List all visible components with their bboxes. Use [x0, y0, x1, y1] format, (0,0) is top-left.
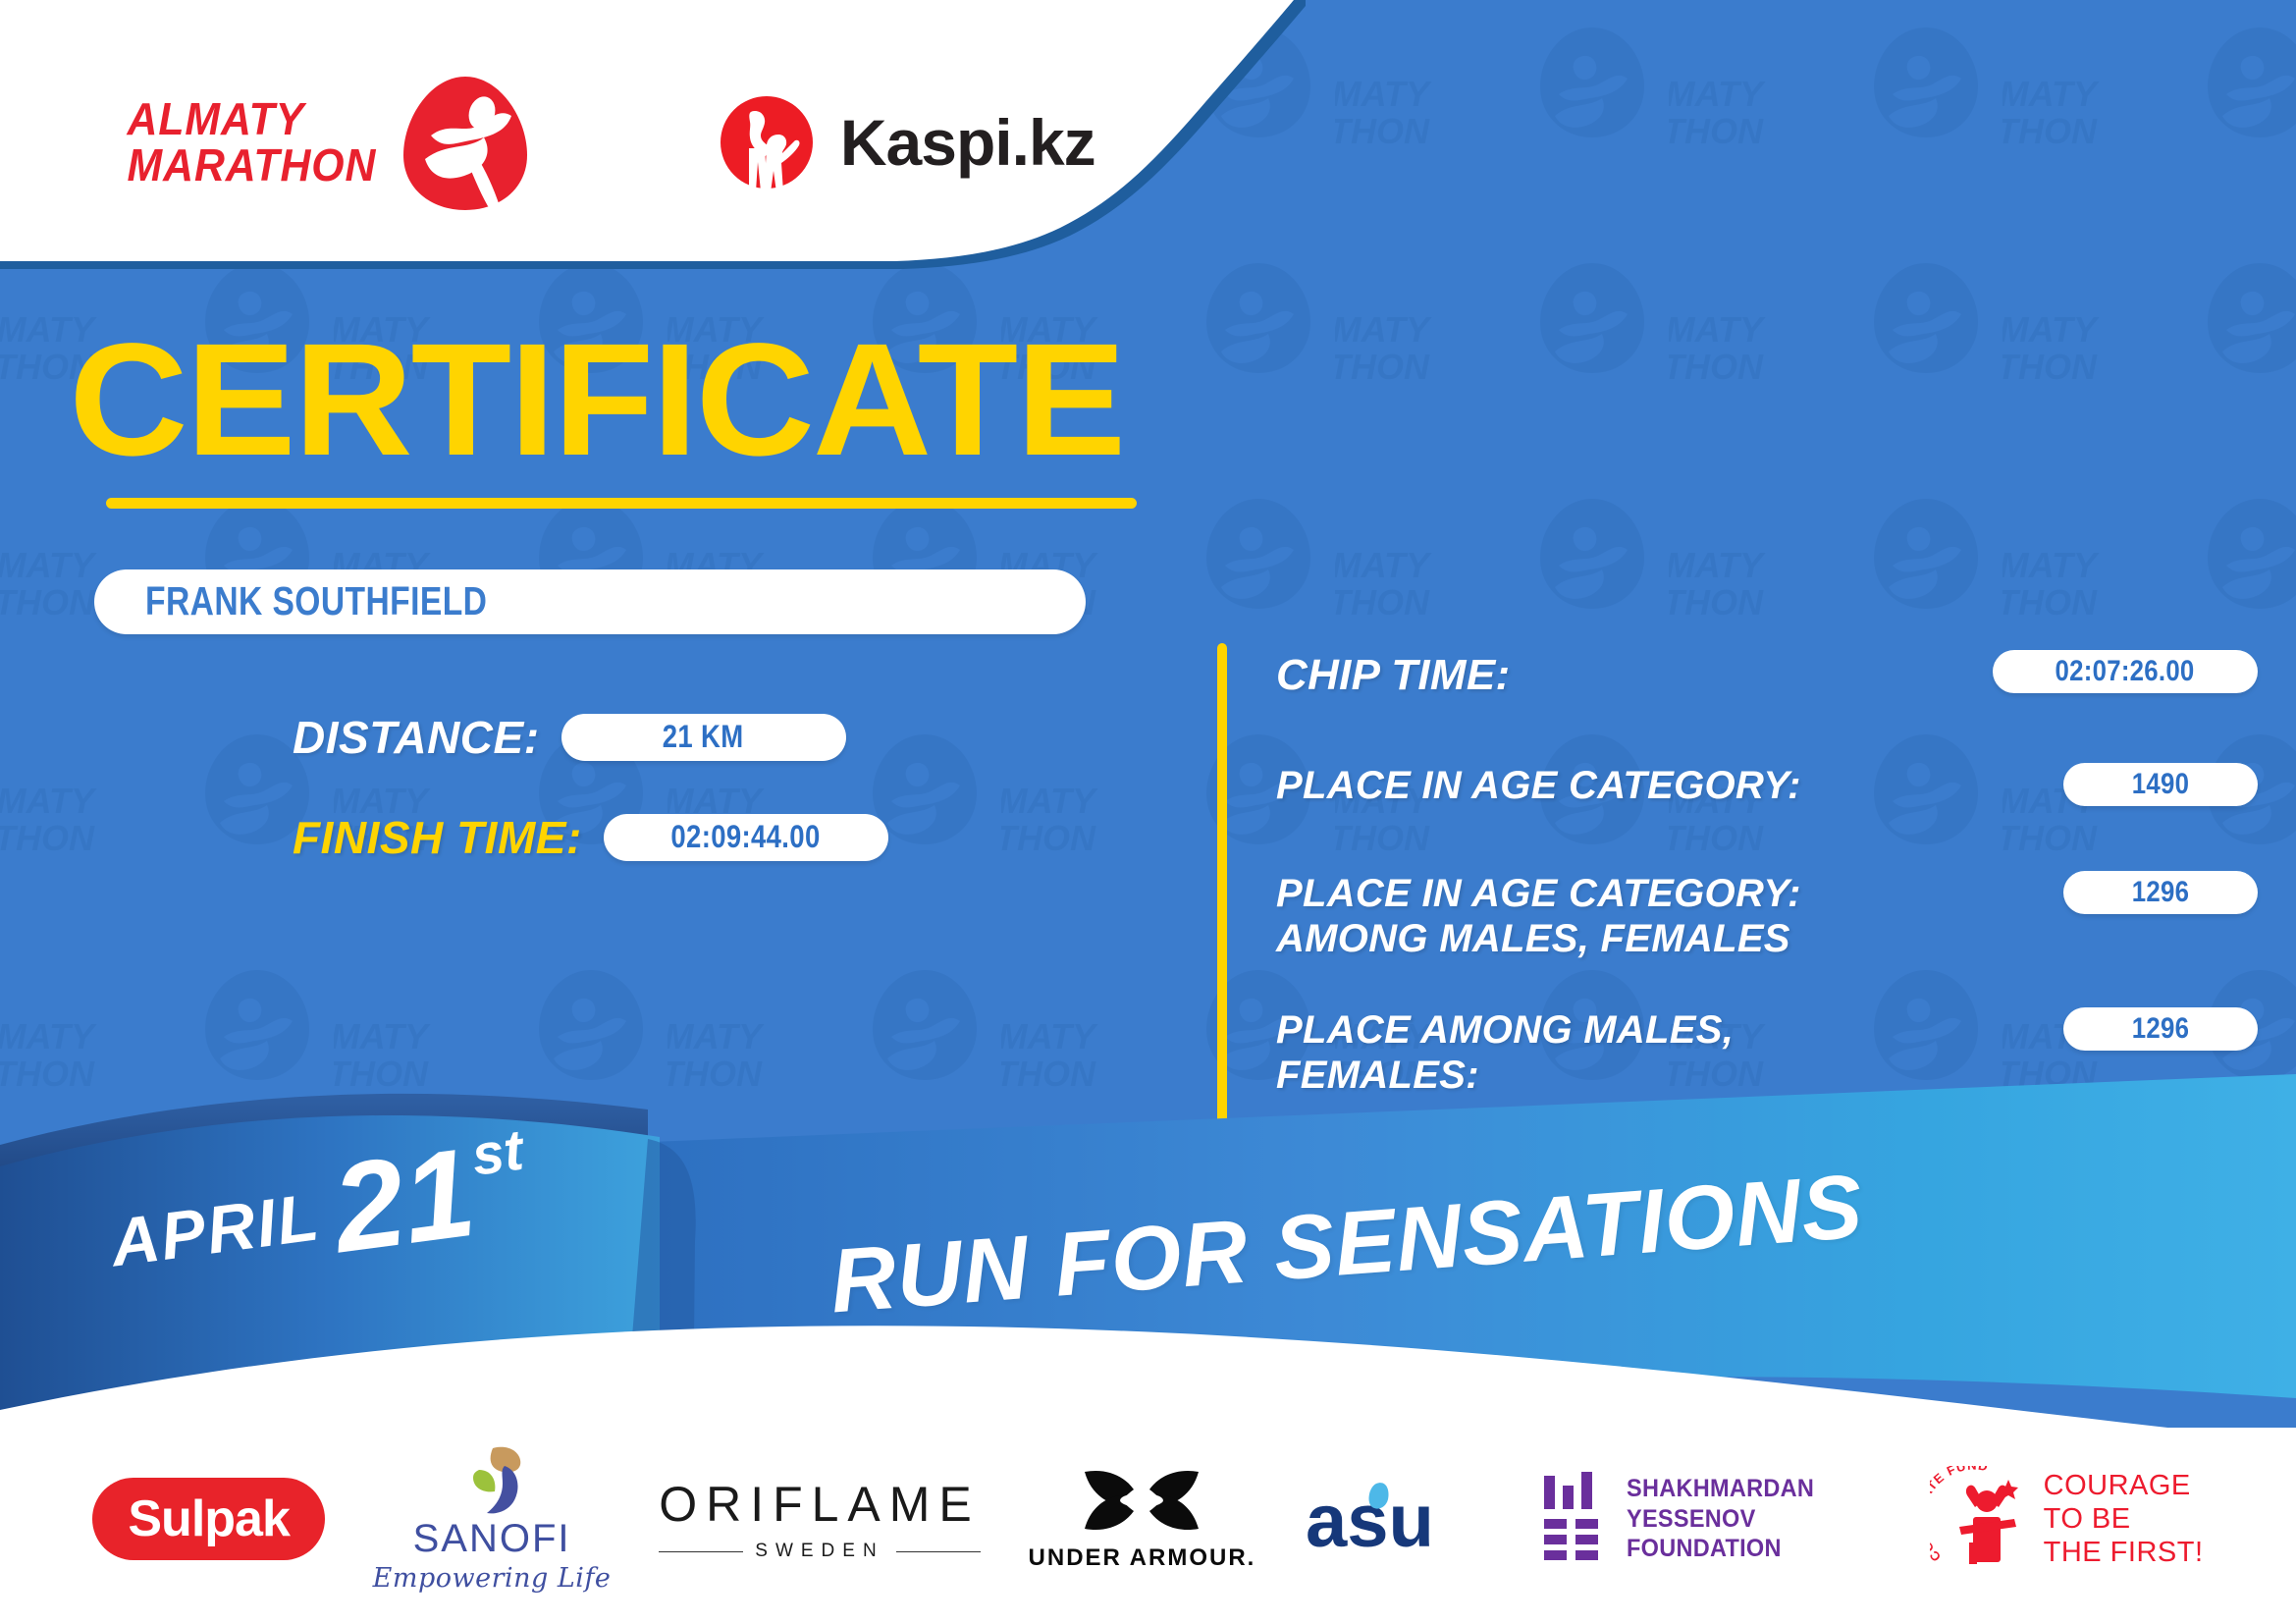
finish-time-row: FINISH TIME: 02:09:44.00: [293, 811, 1168, 864]
sanofi-mark-icon: [450, 1444, 534, 1515]
sponsor-yessenov-foundation-logo: SHAKHMARDAN YESSENOV FOUNDATION: [1538, 1472, 1882, 1566]
place-age-category-label: PLACE IN AGE CATEGORY:: [1276, 761, 1801, 808]
place-among-males-females-label-line1: PLACE AMONG MALES,: [1276, 1007, 1734, 1053]
place-age-category-among-label: PLACE IN AGE CATEGORY: AMONG MALES, FEMA…: [1276, 869, 1801, 962]
almaty-marathon-logo-line2: MARATHON: [128, 142, 377, 189]
oriflame-rule-left: [659, 1551, 743, 1552]
finish-time-label: FINISH TIME:: [293, 811, 582, 864]
sponsor-oriflame-logo: ORIFLAME SWEDEN: [659, 1476, 981, 1562]
finish-time-value: 02:09:44.00: [671, 819, 821, 855]
sponsor-sulpak-logo: Sulpak: [92, 1478, 325, 1560]
header-logo-row: ALMATY MARATHON Kaspi.kz: [0, 0, 1129, 285]
bottom-white-wave: [0, 1294, 2296, 1441]
finish-time-value-pill: 02:09:44.00: [604, 814, 888, 861]
sponsor-yessenov-line2: FOUNDATION: [1627, 1534, 1866, 1564]
sponsor-corporate-fund-text: COURAGE TO BE THE FIRST!: [2044, 1469, 2204, 1570]
sponsor-corporate-fund-logo: CORPORATE FUND COURAGE TO BE THE FIRST!: [1930, 1466, 2204, 1572]
result-row-place-age-category: PLACE IN AGE CATEGORY: 1490: [1276, 761, 2258, 812]
under-armour-mark-icon: [1077, 1466, 1206, 1539]
place-among-males-females-label: PLACE AMONG MALES, FEMALES:: [1276, 1005, 1734, 1099]
result-row-place-age-category-among: PLACE IN AGE CATEGORY: AMONG MALES, FEMA…: [1276, 869, 2258, 962]
sponsor-oriflame-tagline: SWEDEN: [755, 1541, 883, 1562]
svg-text:asu: asu: [1306, 1480, 1434, 1563]
sponsor-oriflame-subline: SWEDEN: [659, 1541, 981, 1562]
oriflame-rule-right: [896, 1551, 981, 1552]
almaty-marathon-logo-text: ALMATY MARATHON: [128, 96, 377, 189]
chip-time-label: CHIP TIME:: [1276, 648, 1510, 700]
sponsor-sanofi-logo: SANOFI Empowering Life: [373, 1444, 612, 1594]
results-column: CHIP TIME: 02:07:26.00 PLACE IN AGE CATE…: [1276, 648, 2258, 1230]
kaspi-people-icon: [716, 91, 819, 194]
participant-name-value: FRANK SOUTHFIELD: [145, 578, 487, 624]
place-overall-ranking-value-pill: 1490: [2063, 1144, 2258, 1187]
title-divider-rule: [106, 498, 1137, 509]
result-row-chip-time: CHIP TIME: 02:07:26.00: [1276, 648, 2258, 700]
sponsor-yessenov-line1: SHAKHMARDAN YESSENOV: [1627, 1474, 1866, 1534]
place-age-category-among-label-line1: PLACE IN AGE CATEGORY:: [1276, 871, 1801, 916]
event-date-day: 21: [328, 1139, 481, 1265]
corporate-fund-child-icon: CORPORATE FUND: [1930, 1466, 2036, 1572]
place-age-category-among-value: 1296: [2132, 876, 2189, 909]
chip-time-value-pill: 02:07:26.00: [1993, 650, 2258, 693]
distance-label: DISTANCE:: [293, 711, 540, 764]
yessenov-bars-icon: [1538, 1472, 1607, 1566]
page-title: CERTIFICATE: [59, 324, 1201, 476]
place-age-category-among-value-pill: 1296: [2063, 871, 2258, 914]
chip-time-value: 02:07:26.00: [2056, 655, 2195, 688]
almaty-marathon-runner-icon: [392, 69, 539, 216]
left-column: CERTIFICATE FRANK SOUTHFIELD DISTANCE: 2…: [59, 324, 1168, 864]
sponsor-logo-bar: Sulpak SANOFI Empowering Life ORIFLAME S…: [0, 1428, 2296, 1624]
asu-wordmark-icon: asu: [1304, 1474, 1490, 1564]
certificate-canvas: ALMATY MARATHON ALMATY MARATHON: [0, 0, 2296, 1624]
corporate-fund-line1: COURAGE: [2044, 1469, 2204, 1502]
kaspi-logo: Kaspi.kz: [716, 91, 1095, 194]
distance-value-pill: 21 KM: [561, 714, 846, 761]
sponsor-oriflame-text: ORIFLAME: [659, 1476, 981, 1533]
sponsor-yessenov-text: SHAKHMARDAN YESSENOV FOUNDATION: [1627, 1474, 1866, 1564]
almaty-marathon-logo-line1: ALMATY: [128, 96, 377, 142]
sponsor-asu-logo: asu: [1304, 1474, 1490, 1564]
place-overall-ranking-value: 1490: [2132, 1149, 2189, 1182]
place-among-males-females-label-line2: FEMALES:: [1276, 1053, 1734, 1098]
place-among-males-females-value-pill: 1296: [2063, 1007, 2258, 1051]
sponsor-under-armour-text: UNDER ARMOUR.: [1029, 1544, 1256, 1572]
distance-row: DISTANCE: 21 KM: [293, 711, 1168, 764]
result-row-place-among-males-females: PLACE AMONG MALES, FEMALES: 1296: [1276, 1005, 2258, 1099]
sponsor-under-armour-logo: UNDER ARMOUR.: [1029, 1466, 1256, 1572]
corporate-fund-line2: TO BE: [2044, 1502, 2204, 1536]
place-age-category-among-label-line2: AMONG MALES, FEMALES: [1276, 916, 1801, 961]
sponsor-sulpak-text: Sulpak: [128, 1489, 290, 1548]
place-age-category-value: 1490: [2132, 768, 2189, 801]
participant-name-field: FRANK SOUTHFIELD: [94, 569, 1086, 634]
almaty-marathon-logo: ALMATY MARATHON: [118, 69, 539, 216]
event-date-month: APRIL: [106, 1178, 324, 1281]
corporate-fund-line3: THE FIRST!: [2044, 1536, 2204, 1569]
place-age-category-value-pill: 1490: [2063, 763, 2258, 806]
event-date-ordinal: st: [468, 1117, 527, 1189]
sponsor-sanofi-tagline: Empowering Life: [373, 1563, 612, 1594]
distance-value: 21 KM: [663, 719, 744, 755]
kaspi-logo-text: Kaspi.kz: [840, 105, 1095, 180]
sponsor-sanofi-text: SANOFI: [413, 1517, 571, 1561]
place-among-males-females-value: 1296: [2132, 1012, 2189, 1046]
